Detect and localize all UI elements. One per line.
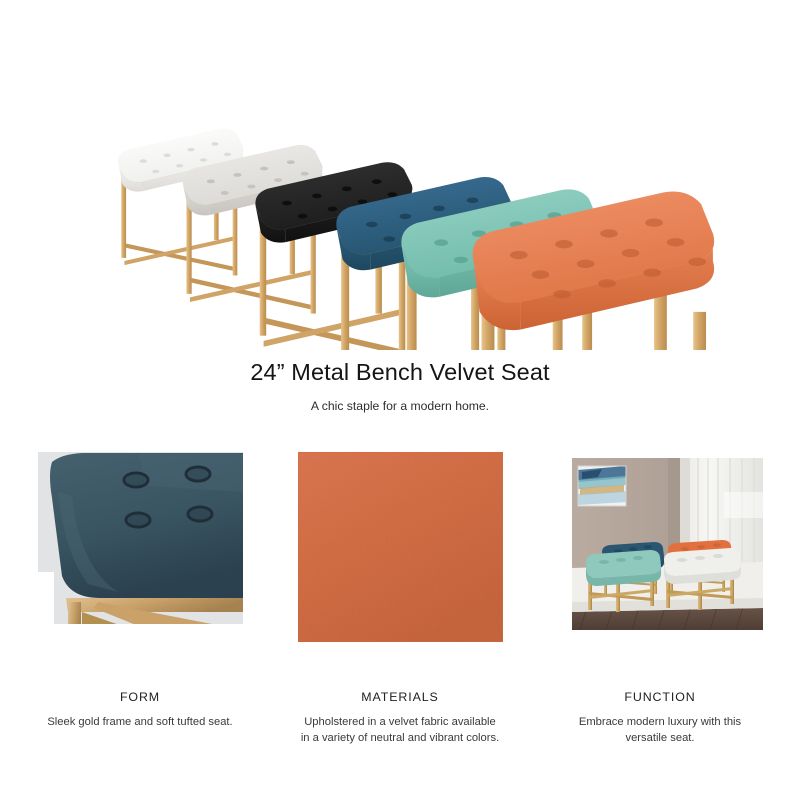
feature-materials: MATERIALS Upholstered in a velvet fabric… — [298, 452, 503, 747]
page-title: 24” Metal Bench Velvet Seat — [0, 358, 800, 387]
feature-heading-materials: MATERIALS — [361, 690, 438, 704]
feature-body-materials: Upholstered in a velvet fabric available… — [300, 715, 500, 747]
page-subtitle: A chic staple for a modern home. — [0, 399, 800, 415]
styled-room-scene-image — [558, 452, 763, 642]
title-block: 24” Metal Bench Velvet Seat A chic stapl… — [0, 358, 800, 415]
feature-body-form: Sleek gold frame and soft tufted seat. — [40, 715, 240, 731]
feature-form: FORM Sleek gold frame and soft tufted se… — [38, 452, 243, 747]
hero-image — [0, 0, 800, 350]
feature-heading-form: FORM — [120, 690, 160, 704]
tufted-seat-closeup-image — [38, 452, 243, 642]
feature-columns: FORM Sleek gold frame and soft tufted se… — [0, 452, 800, 747]
feature-heading-function: FUNCTION — [624, 690, 695, 704]
feature-function: FUNCTION Embrace modern luxury with this… — [558, 452, 763, 747]
bench-lineup-illustration — [0, 0, 800, 350]
feature-body-function: Embrace modern luxury with this versatil… — [560, 715, 760, 747]
wall-art — [578, 466, 626, 506]
velvet-fabric-swatch-image — [298, 452, 503, 642]
